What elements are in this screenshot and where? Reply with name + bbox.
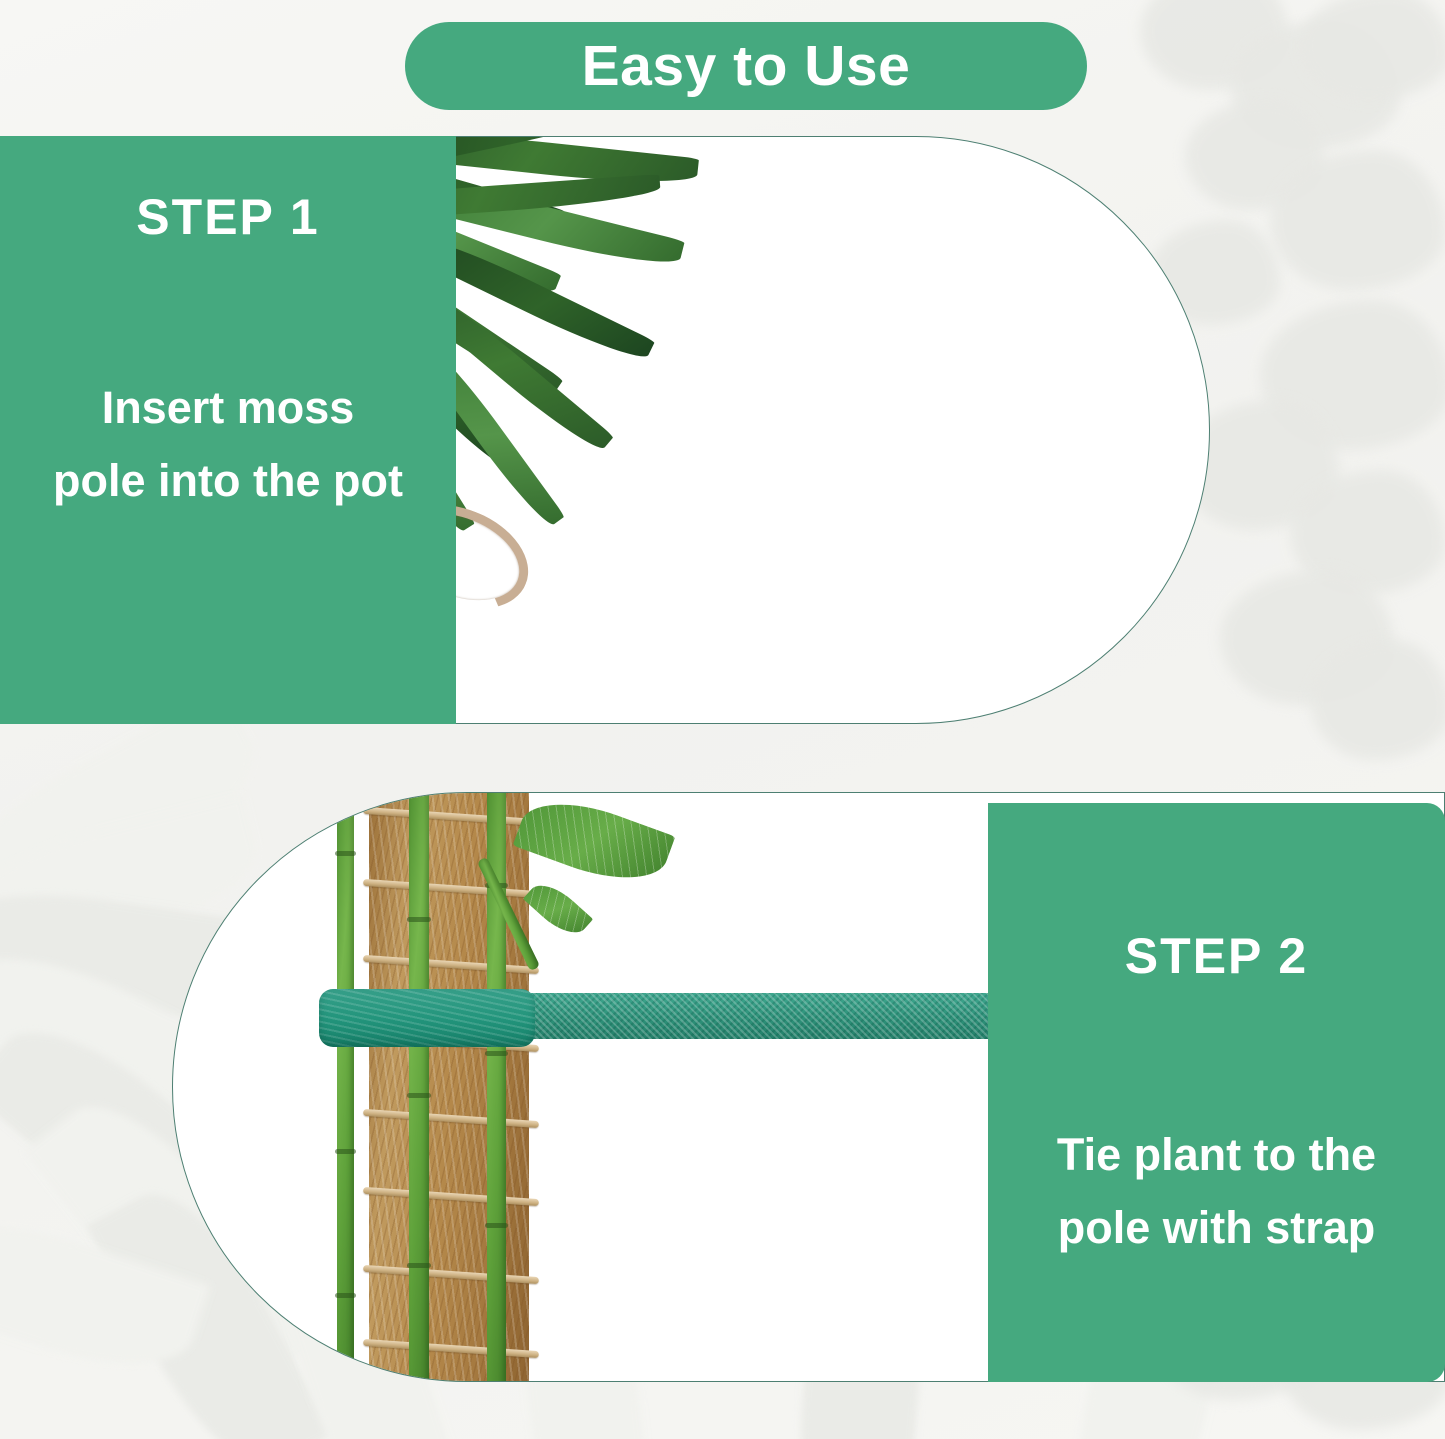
plant-stem-mid: [409, 792, 429, 1382]
infographic-root: Easy to Use: [0, 0, 1445, 1439]
step-1-text-block: STEP 1 Insert moss pole into the pot: [0, 136, 456, 724]
step-1-description-line-2: pole into the pot: [8, 445, 448, 518]
step-1-label: STEP 1: [0, 188, 456, 246]
page-title: Easy to Use: [582, 38, 911, 95]
step-2-text-block: STEP 2 Tie plant to the pole with strap: [988, 803, 1445, 1382]
step-2-description-line-1: Tie plant to the: [998, 1119, 1435, 1192]
step-1-description: Insert moss pole into the pot: [8, 372, 448, 518]
plant-leaf: [513, 792, 676, 897]
step-2-description: Tie plant to the pole with strap: [998, 1119, 1435, 1265]
step-2-label: STEP 2: [988, 927, 1445, 985]
plant-strap-loop: [319, 989, 535, 1047]
step-2-description-line-2: pole with strap: [998, 1192, 1435, 1265]
page-title-pill: Easy to Use: [405, 22, 1087, 110]
step-2-panel: STEP 2 Tie plant to the pole with strap: [172, 792, 1445, 1382]
step-1-description-line-1: Insert moss: [8, 372, 448, 445]
step-1-panel: STEP 1 Insert moss pole into the pot: [0, 136, 1210, 724]
